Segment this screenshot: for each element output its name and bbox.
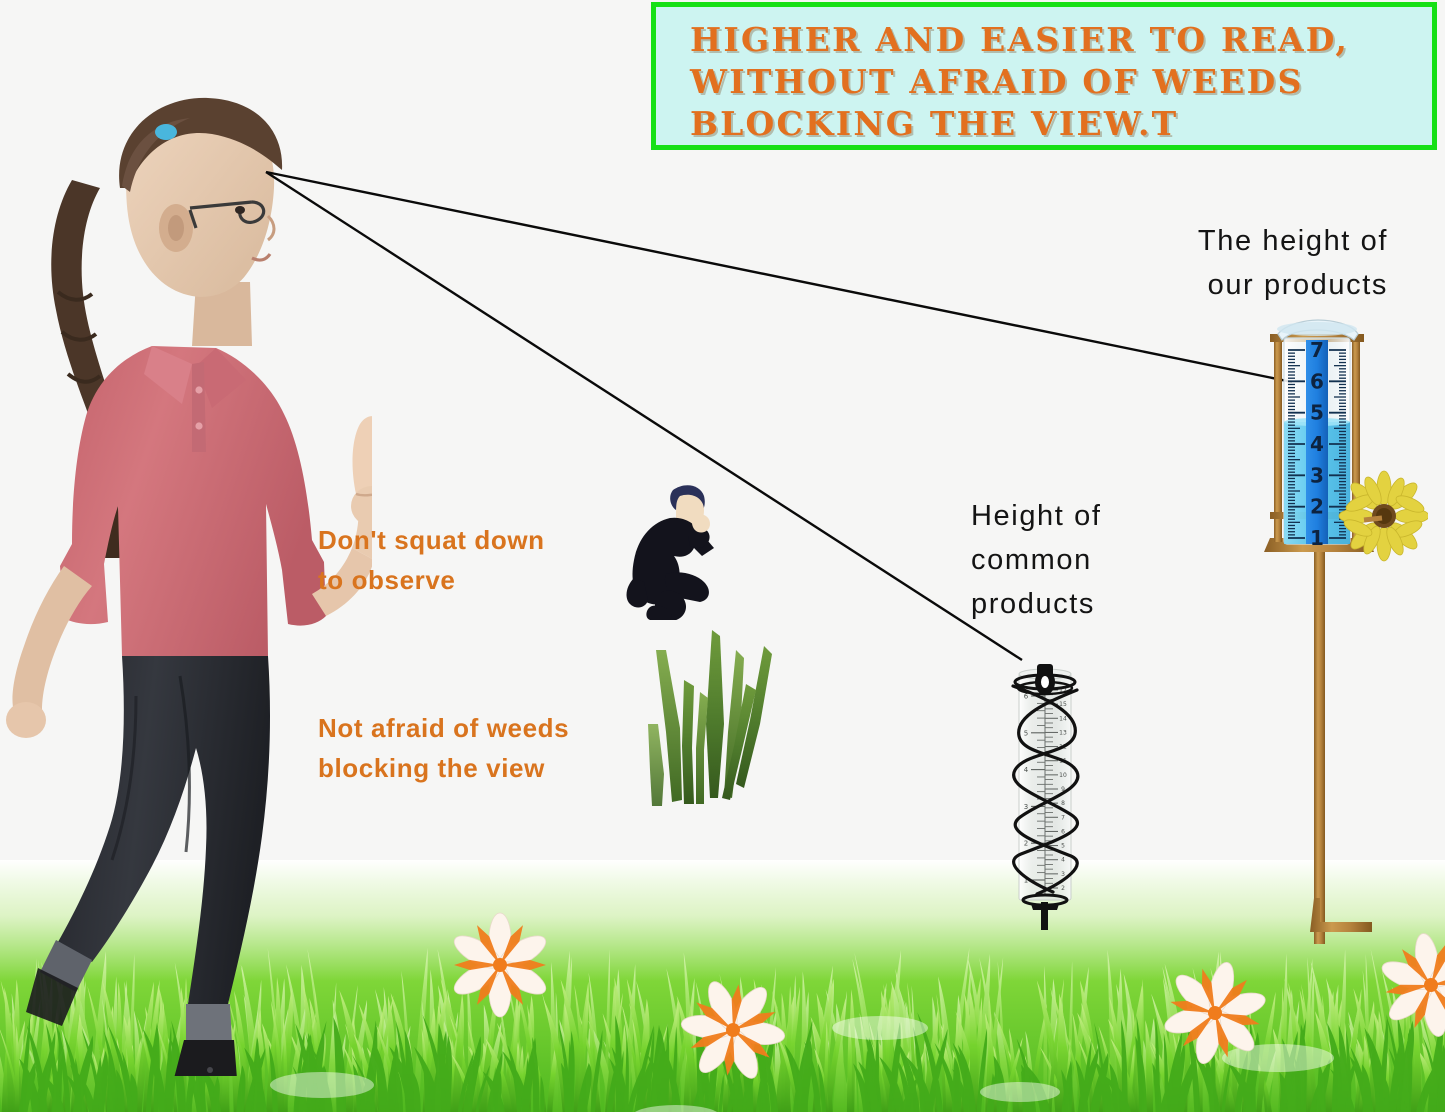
label-common-products: Height of common products xyxy=(971,494,1101,626)
common-scale-number-right: 13 xyxy=(1059,729,1067,736)
common-scale-number-left: 4 xyxy=(1024,766,1029,774)
gauge-stake xyxy=(1314,544,1325,944)
to-our-gauge xyxy=(266,172,1292,382)
gauge-scale-number: 4 xyxy=(1310,432,1324,456)
label-dont-squat: Don't squat down to observe xyxy=(318,520,545,600)
label-our-products: The height of our products xyxy=(1140,219,1388,307)
common-scale-number-right: 5 xyxy=(1061,843,1065,850)
headline-line-2: WITHOUT AFRAID OF WEEDS xyxy=(690,61,1432,103)
gauge-scale-number: 3 xyxy=(1310,463,1324,487)
stake-foot-pedal xyxy=(1310,898,1372,932)
common-scale-number-right: 4 xyxy=(1061,857,1065,864)
label-not-afraid-weeds: Not afraid of weeds blocking the view xyxy=(318,708,569,788)
common-rain-gauge: 654321 1715141312111098765432 xyxy=(995,652,1095,932)
our-rain-gauge: 7654321 xyxy=(1248,316,1428,956)
headline-line-1: HIGHER AND EASIER TO READ, xyxy=(690,19,1432,61)
gauge-scale-number: 7 xyxy=(1310,338,1324,362)
common-scale-number-right: 2 xyxy=(1061,885,1065,892)
common-scale-number-right: 10 xyxy=(1059,772,1067,779)
common-scale-number-right: 7 xyxy=(1061,814,1065,821)
common-scale-number-left: 5 xyxy=(1024,729,1028,737)
gauge-scale-number: 2 xyxy=(1310,495,1324,519)
gauge-scale-number: 5 xyxy=(1310,401,1324,425)
gauge-scale-number: 1 xyxy=(1310,526,1324,550)
sunflower-stem xyxy=(1364,518,1382,520)
gauge-scale-number: 6 xyxy=(1310,369,1324,393)
squatting-man-icon xyxy=(618,478,730,620)
common-scale-number-right: 14 xyxy=(1059,715,1067,722)
hanging-loop-icon xyxy=(1037,664,1053,693)
common-scale-number-right: 8 xyxy=(1061,800,1065,807)
frame-left xyxy=(1274,334,1282,542)
infographic-canvas: 7654321 xyxy=(0,0,1445,1112)
headline-banner: HIGHER AND EASIER TO READ, WITHOUT AFRAI… xyxy=(651,2,1437,150)
weed-clump-icon xyxy=(640,628,790,810)
common-scale-number-left: 3 xyxy=(1024,803,1028,811)
common-scale-number-right: 3 xyxy=(1061,871,1065,878)
headline-line-3: BLOCKING THE VIEW.T xyxy=(690,103,1432,145)
common-scale-number-left: 2 xyxy=(1024,840,1028,848)
sunflower-decoration xyxy=(1339,471,1428,561)
